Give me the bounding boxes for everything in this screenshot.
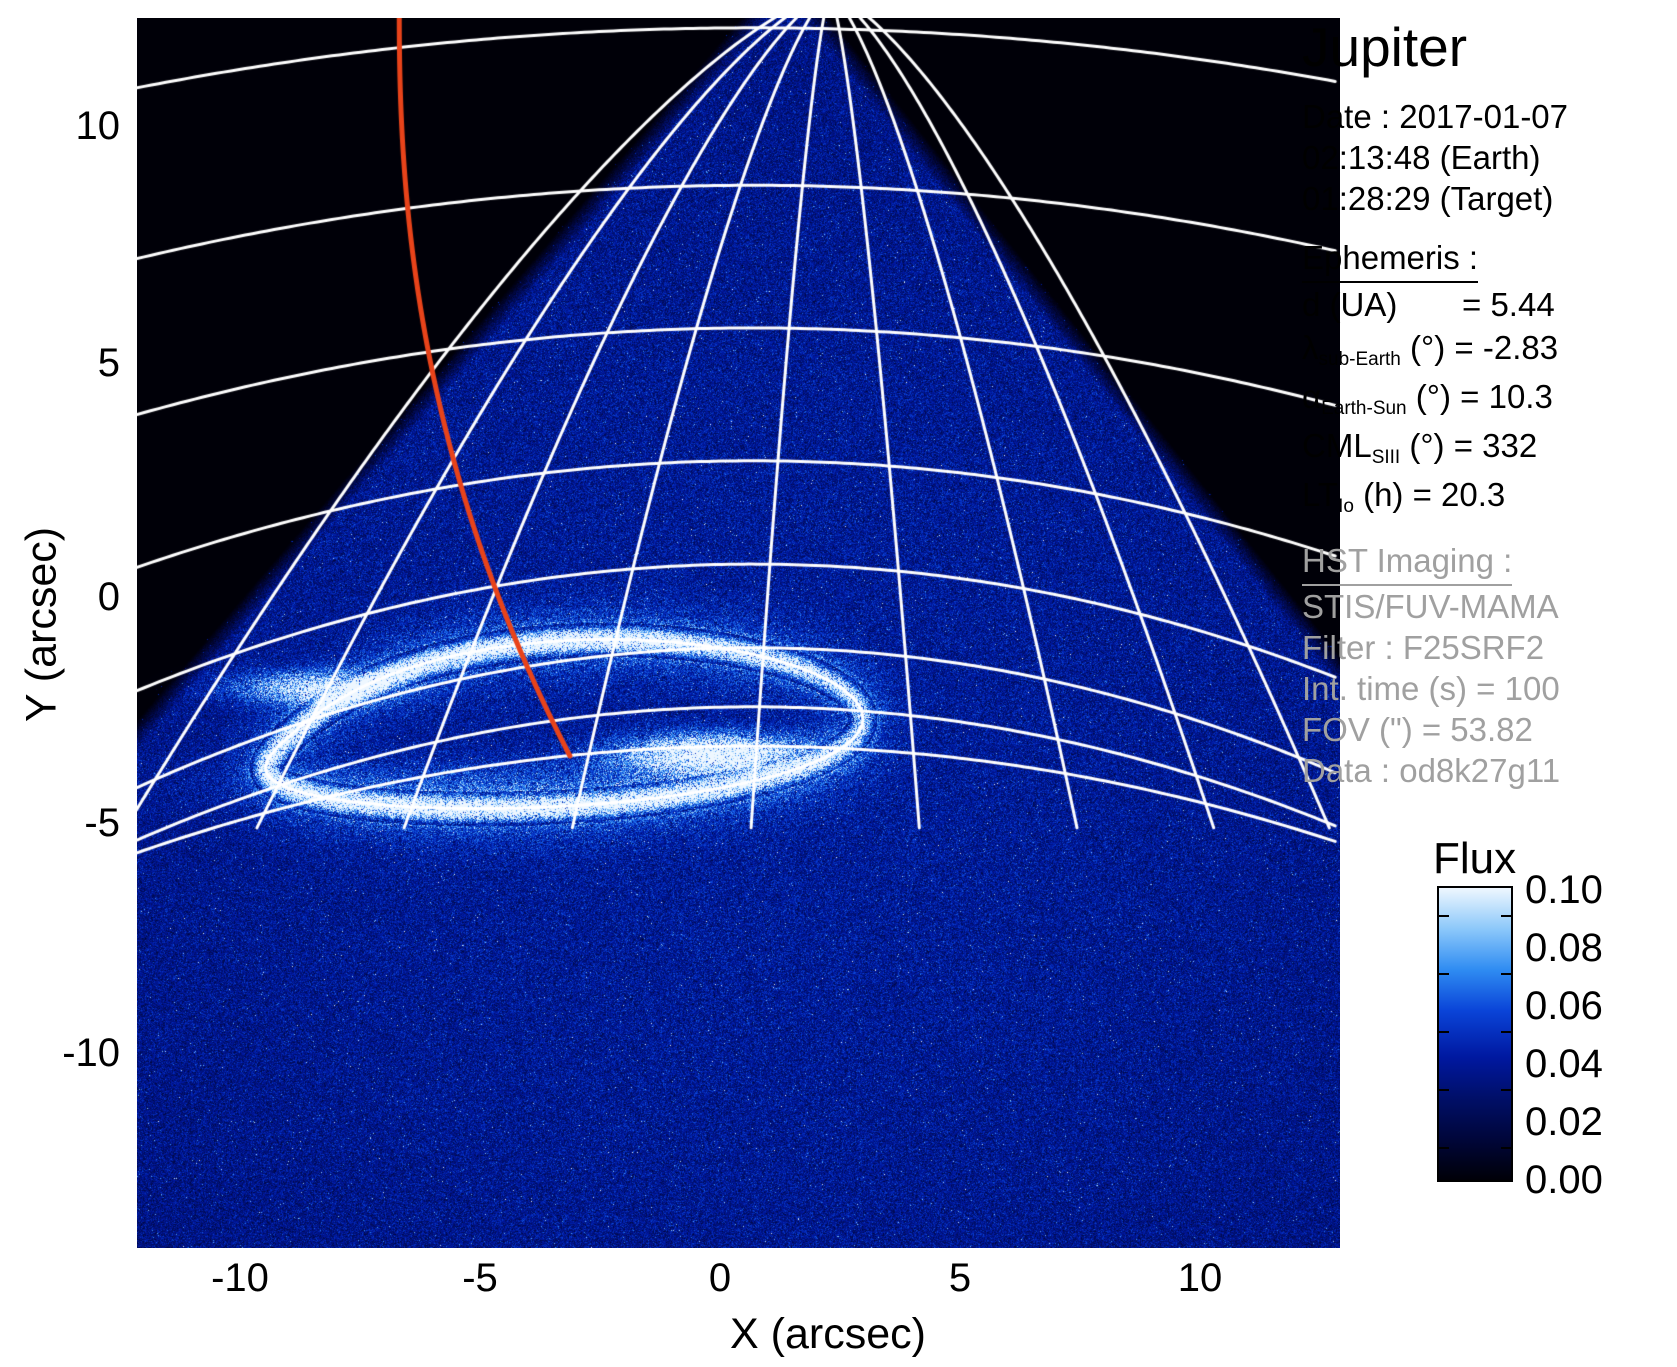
info-panel: Jupiter Date : 2017-01-07 02:13:48 (Eart… bbox=[1298, 0, 1677, 800]
colorbar-tick-label: 0.08 bbox=[1525, 928, 1603, 968]
ephemeris-row-alpha: αEarth-Sun (°) = 10.3 bbox=[1302, 375, 1677, 424]
observation-time-target: 01:28:29 (Target) bbox=[1302, 178, 1677, 219]
x-tick-label: -5 bbox=[420, 1258, 540, 1298]
ephemeris-row-lt: LTIo (h) = 20.3 bbox=[1302, 473, 1677, 522]
ephemeris-label: CMLSIII (°) bbox=[1302, 427, 1445, 464]
ephemeris-label: LTIo (h) bbox=[1302, 476, 1403, 513]
observation-date: Date : 2017-01-07 bbox=[1302, 96, 1677, 137]
x-tick-label: 10 bbox=[1140, 1258, 1260, 1298]
instrument-heading: HST Imaging : bbox=[1302, 540, 1512, 586]
instrument-dataset: Data : od8k27g11 bbox=[1302, 750, 1677, 791]
ephemeris-value: = 10.3 bbox=[1460, 378, 1553, 415]
instrument-int-time: Int. time (s) = 100 bbox=[1302, 668, 1677, 709]
y-tick-label: 5 bbox=[0, 343, 120, 383]
colorbar-gradient bbox=[1437, 886, 1513, 1182]
ephemeris-label: αEarth-Sun (°) bbox=[1302, 378, 1451, 415]
colorbar-tick-label: 0.06 bbox=[1525, 986, 1603, 1026]
instrument-detector: STIS/FUV-MAMA bbox=[1302, 586, 1677, 627]
image-plot-area bbox=[137, 18, 1340, 1248]
colorbar-tick-label: 0.00 bbox=[1525, 1160, 1603, 1200]
ephemeris-row-cml: CMLSIII (°) = 332 bbox=[1302, 424, 1677, 473]
jupiter-aurora-image bbox=[137, 18, 1340, 1248]
y-axis-title: Y (arcsec) bbox=[18, 475, 67, 775]
page-title: Jupiter bbox=[1302, 16, 1677, 78]
ephemeris-heading: Ephemeris : bbox=[1302, 237, 1478, 283]
ephemeris-value: = 332 bbox=[1454, 427, 1538, 464]
ephemeris-row-lambda: λsub-Earth (°) = -2.83 bbox=[1302, 326, 1677, 375]
x-tick-label: 5 bbox=[900, 1258, 1020, 1298]
colorbar-tick-label: 0.02 bbox=[1525, 1102, 1603, 1142]
colorbar-tick-label: 0.10 bbox=[1525, 870, 1603, 910]
x-tick-label: 0 bbox=[660, 1258, 780, 1298]
colorbar: Flux (counts.s-1) 0.10 0.08 0.06 0.04 0.… bbox=[1405, 836, 1677, 1236]
y-tick-label: -10 bbox=[0, 1033, 120, 1073]
observation-time-earth: 02:13:48 (Earth) bbox=[1302, 137, 1677, 178]
x-tick-label: -10 bbox=[180, 1258, 300, 1298]
ephemeris-row-d: d (UA)= 5.44 bbox=[1302, 283, 1677, 326]
instrument-filter: Filter : F25SRF2 bbox=[1302, 627, 1677, 668]
ephemeris-label: d (UA) bbox=[1302, 283, 1462, 326]
ephemeris-label: λsub-Earth (°) bbox=[1302, 329, 1445, 366]
ephemeris-value: = 5.44 bbox=[1462, 286, 1555, 323]
ephemeris-value: = 20.3 bbox=[1413, 476, 1506, 513]
ephemeris-value: = -2.83 bbox=[1454, 329, 1558, 366]
x-axis-title: X (arcsec) bbox=[678, 1310, 978, 1359]
y-tick-label: -5 bbox=[0, 803, 120, 843]
y-tick-label: 10 bbox=[0, 106, 120, 146]
colorbar-tick-label: 0.04 bbox=[1525, 1044, 1603, 1084]
instrument-fov: FOV (") = 53.82 bbox=[1302, 709, 1677, 750]
